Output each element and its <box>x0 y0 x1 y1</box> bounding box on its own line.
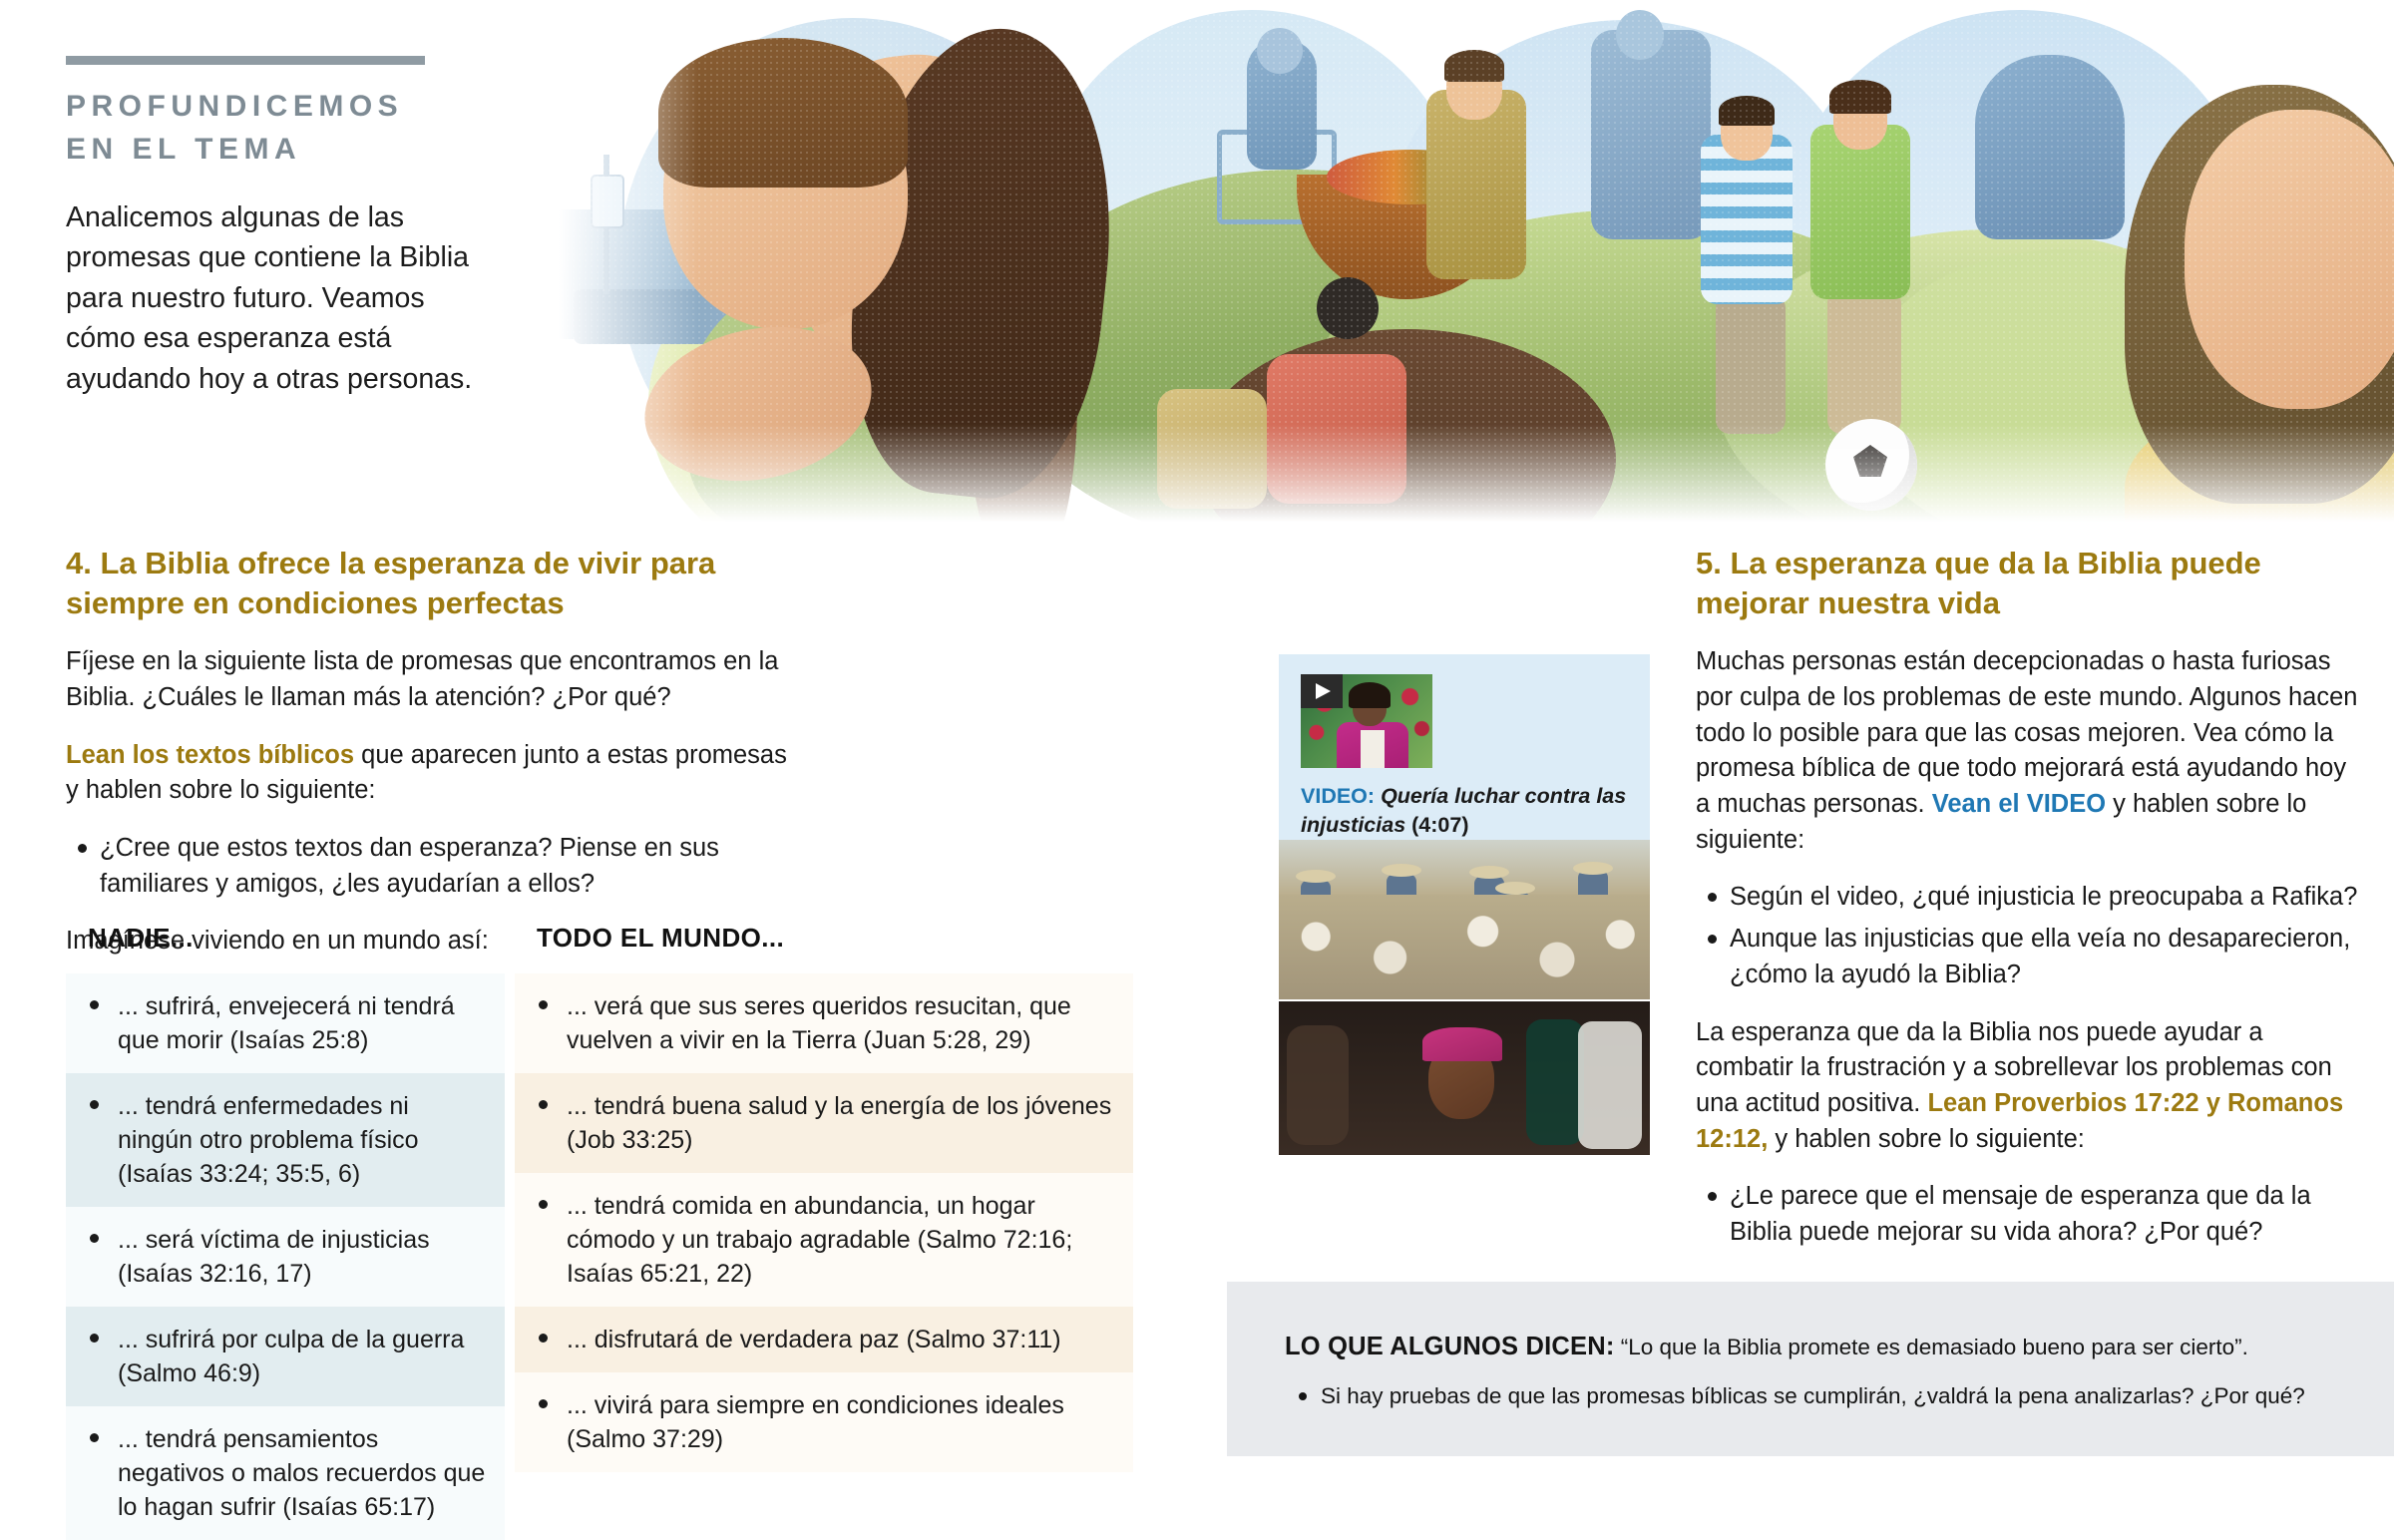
column-header-nadie: NADIE... <box>66 923 505 973</box>
section-5-heading: 5. La esperanza que da la Biblia puede m… <box>1696 544 2359 622</box>
list-item: ¿Cree que estos textos dan esperanza? Pi… <box>66 831 794 902</box>
section-4-bullets: ¿Cree que estos textos dan esperanza? Pi… <box>66 831 794 902</box>
play-icon[interactable] <box>1301 674 1343 708</box>
section-5-paragraph-2-after: y hablen sobre lo siguiente: <box>1768 1125 2085 1153</box>
table-row: ... vivirá para siempre en condiciones i… <box>515 1372 1133 1472</box>
hero-left-fade <box>559 0 698 544</box>
banner-quote: “Lo que la Biblia promete es demasiado b… <box>1615 1335 2248 1359</box>
section-4-paragraph-2: Lean los textos bíblicos que aparecen ju… <box>66 738 794 809</box>
cotton-plants <box>1279 895 1650 999</box>
thumbnail-person-shirt <box>1361 730 1385 768</box>
section-5-bullets-2: ¿Le parece que el mensaje de esperanza q… <box>1696 1179 2359 1250</box>
kicker-title: PROFUNDICEMOS EN EL TEMA <box>66 86 495 171</box>
intro-paragraph: Analicemos algunas de las promesas que c… <box>66 197 497 399</box>
table-row: ... tendrá enfermedades ni ningún otro p… <box>66 1073 505 1207</box>
list-item: Aunque las injusticias que ella veía no … <box>1696 922 2359 992</box>
section-5-bullets-1: Según el video, ¿qué injusticia le preoc… <box>1696 880 2359 992</box>
section-4: 4. La Biblia ofrece la esperanza de vivi… <box>66 544 794 981</box>
video-caption: VIDEO: Quería luchar contra las injustic… <box>1301 782 1630 840</box>
scripture-link-4[interactable]: Lean los textos bíblicos <box>66 741 354 769</box>
table-row: ... tendrá buena salud y la energía de l… <box>515 1073 1133 1173</box>
kicker-rule <box>66 56 425 65</box>
table-row: ... sufrirá, envejecerá ni tendrá que mo… <box>66 973 505 1073</box>
table-row: ... será víctima de injusticias (Isaías … <box>66 1207 505 1307</box>
section-5-paragraph-1: Muchas personas están decepcionadas o ha… <box>1696 644 2359 858</box>
section-4-heading: 4. La Biblia ofrece la esperanza de vivi… <box>66 544 794 622</box>
table-row: ... verá que sus seres queridos resucita… <box>515 973 1133 1073</box>
thumbnail-person-hair <box>1349 682 1391 708</box>
photo-cotton-field <box>1279 840 1650 999</box>
section-4-paragraph-1: Fíjese en la siguiente lista de promesas… <box>66 644 794 715</box>
background-person-left <box>1287 1025 1349 1145</box>
woman-headwrap <box>1422 1027 1502 1061</box>
list-item: ¿Le parece que el mensaje de esperanza q… <box>1696 1179 2359 1250</box>
document-page: PROFUNDICEMOS EN EL TEMA Analicemos algu… <box>0 0 2394 1539</box>
banner-label: LO QUE ALGUNOS DICEN: <box>1285 1333 1615 1360</box>
background-person-far-right <box>1578 1021 1642 1149</box>
list-item: Según el video, ¿qué injusticia le preoc… <box>1696 880 2359 916</box>
list-item: Si hay pruebas de que las promesas bíbli… <box>1285 1381 2342 1411</box>
table-row: ... tendrá comida en abundancia, un hoga… <box>515 1173 1133 1307</box>
background-person-right <box>1526 1019 1584 1145</box>
hero-bottom-fade <box>559 424 2394 544</box>
banner-bullets: Si hay pruebas de que las promesas bíbli… <box>1285 1381 2342 1411</box>
table-row: ... sufrirá por culpa de la guerra (Salm… <box>66 1307 505 1406</box>
video-duration: (4:07) <box>1411 813 1468 837</box>
video-thumbnail[interactable] <box>1301 674 1432 768</box>
promises-table: NADIE... ... sufrirá, envejecerá ni tend… <box>66 923 1153 1540</box>
video-label: VIDEO: <box>1301 784 1375 808</box>
table-row: ... tendrá pensamientos negativos o malo… <box>66 1406 505 1540</box>
table-column-todo-el-mundo: TODO EL MUNDO... ... verá que sus seres … <box>515 923 1133 1540</box>
section-5-paragraph-2: La esperanza que da la Biblia nos puede … <box>1696 1015 2359 1158</box>
video-link[interactable]: Vean el VIDEO <box>1932 790 2106 818</box>
table-row: ... disfrutará de verdadera paz (Salmo 3… <box>515 1307 1133 1372</box>
section-5: 5. La esperanza que da la Biblia puede m… <box>1696 544 2359 1273</box>
hero-illustration <box>559 0 2394 544</box>
table-column-nadie: NADIE... ... sufrirá, envejecerá ni tend… <box>66 923 505 1540</box>
video-callout[interactable]: VIDEO: Quería luchar contra las injustic… <box>1279 654 1650 840</box>
column-header-todo-el-mundo: TODO EL MUNDO... <box>515 923 1133 973</box>
photo-woman-smiling <box>1279 1001 1650 1155</box>
banner-content: LO QUE ALGUNOS DICEN: “Lo que la Biblia … <box>1285 1330 2342 1412</box>
what-some-say-banner: LO QUE ALGUNOS DICEN: “Lo que la Biblia … <box>1227 1282 2394 1456</box>
